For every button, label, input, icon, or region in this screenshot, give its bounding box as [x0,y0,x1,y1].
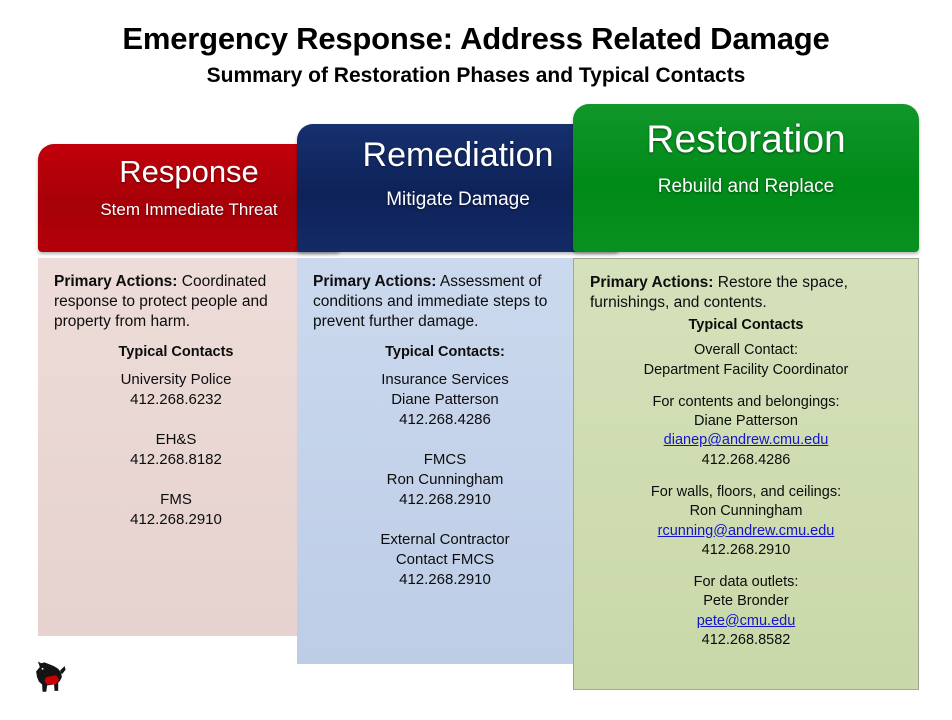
contacts-heading-restoration: Typical Contacts [590,317,902,333]
primary-actions-label: Primary Actions: [313,273,436,290]
primary-actions-response: Primary Actions: Coordinated response to… [54,272,298,332]
phase-header-response: Response Stem Immediate Threat [38,144,340,252]
phase-subtitle-restoration: Rebuild and Replace [573,177,919,197]
contact-text: EH&S [54,430,298,450]
contact-text: FMS [54,490,298,510]
contact-phone: 412.268.4286 [590,451,902,470]
contact-text: Ron Cunningham [313,470,577,490]
contact-phone: 412.268.2910 [313,490,577,510]
contact-text: Department Facility Coordinator [590,361,902,380]
contact-phone: 412.268.2910 [54,510,298,530]
primary-actions-remediation: Primary Actions: Assessment of condition… [313,272,577,332]
contact-email[interactable]: rcunning@andrew.cmu.edu [590,522,902,541]
contact-group: EH&S412.268.8182 [54,430,298,470]
contact-text: For walls, floors, and ceilings: [590,483,902,502]
contact-group: For data outlets:Pete Bronderpete@cmu.ed… [590,573,902,650]
primary-actions-restoration: Primary Actions: Restore the space, furn… [590,273,902,313]
contact-phone: 412.268.2910 [313,570,577,590]
phase-body-restoration: Primary Actions: Restore the space, furn… [573,258,919,690]
phase-title-response: Response [38,156,340,189]
contact-text: University Police [54,370,298,390]
phase-title-restoration: Restoration [573,120,919,161]
contact-group: University Police412.268.6232 [54,370,298,410]
phase-title-remediation: Remediation [297,138,619,174]
contact-group: For contents and belongings:Diane Patter… [590,393,902,470]
contact-group: For walls, floors, and ceilings:Ron Cunn… [590,483,902,560]
contact-group: Insurance ServicesDiane Patterson412.268… [313,370,577,430]
contact-phone: 412.268.6232 [54,390,298,410]
contacts-list-restoration: Overall Contact:Department Facility Coor… [590,341,902,650]
contacts-heading-remediation: Typical Contacts: [313,344,577,360]
contact-email[interactable]: dianep@andrew.cmu.edu [590,431,902,450]
primary-actions-label: Primary Actions: [54,273,177,290]
contact-phone: 412.268.8182 [54,450,298,470]
phase-header-restoration: Restoration Rebuild and Replace [573,104,919,252]
phase-body-remediation: Primary Actions: Assessment of condition… [297,258,619,664]
page-title: Emergency Response: Address Related Dama… [0,22,952,56]
contact-group: FMS412.268.2910 [54,490,298,530]
contact-text: External Contractor [313,530,577,550]
contact-text: For contents and belongings: [590,393,902,412]
contact-group: Overall Contact:Department Facility Coor… [590,341,902,380]
phase-subtitle-response: Stem Immediate Threat [38,201,340,219]
contact-text: Ron Cunningham [590,502,902,521]
contact-text: Diane Patterson [313,390,577,410]
contacts-list-remediation: Insurance ServicesDiane Patterson412.268… [313,370,577,589]
scottie-dog-logo [26,655,72,701]
scottie-dog-eye [42,668,44,670]
page-subtitle: Summary of Restoration Phases and Typica… [0,64,952,88]
phase-subtitle-remediation: Mitigate Damage [297,190,619,210]
phase-header-remediation: Remediation Mitigate Damage [297,124,619,252]
contact-email[interactable]: pete@cmu.edu [590,612,902,631]
contacts-list-response: University Police412.268.6232EH&S412.268… [54,370,298,530]
contact-text: Contact FMCS [313,550,577,570]
primary-actions-label: Primary Actions: [590,274,713,291]
contact-text: Pete Bronder [590,592,902,611]
contact-text: Overall Contact: [590,341,902,360]
contact-text: Insurance Services [313,370,577,390]
contact-group: External ContractorContact FMCS412.268.2… [313,530,577,590]
contact-group: FMCSRon Cunningham412.268.2910 [313,450,577,510]
title-block: Emergency Response: Address Related Dama… [0,22,952,88]
phase-body-response: Primary Actions: Coordinated response to… [38,258,340,636]
contacts-heading-response: Typical Contacts [54,344,298,360]
contact-text: For data outlets: [590,573,902,592]
contact-phone: 412.268.8582 [590,631,902,650]
contact-text: FMCS [313,450,577,470]
contact-phone: 412.268.4286 [313,410,577,430]
contact-phone: 412.268.2910 [590,541,902,560]
contact-text: Diane Patterson [590,412,902,431]
